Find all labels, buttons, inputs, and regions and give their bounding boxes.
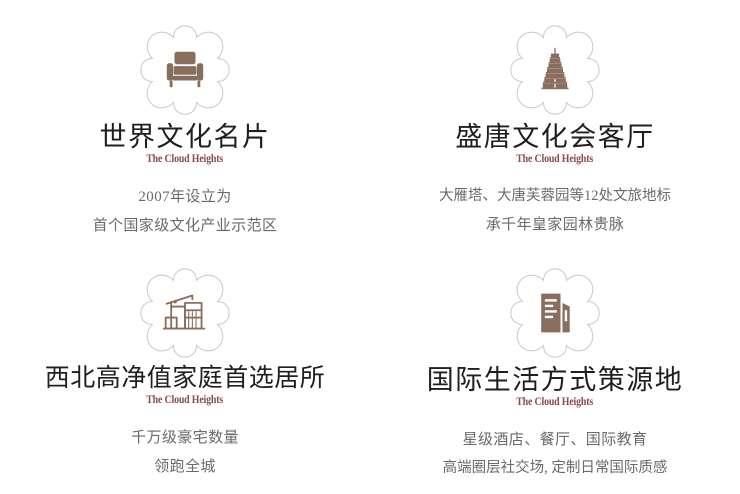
feature-highlights-board: 世界文化名片 The Cloud Heights 2007年设立为 首个国家级文… xyxy=(0,0,740,494)
villa-icon xyxy=(162,290,208,336)
pagoda-icon-badge xyxy=(507,22,603,118)
brand-subtitle: The Cloud Heights xyxy=(147,394,224,408)
feature-description: 千万级豪宅数量 领跑全城 xyxy=(131,424,239,482)
description-line-1: 大雁塔、大唐芙蓉园等12处文旅地标 xyxy=(439,183,671,211)
feature-description: 2007年设立为 首个国家级文化产业示范区 xyxy=(93,183,278,241)
description-line-1: 千万级豪宅数量 xyxy=(131,424,239,453)
feature-card-grid: 世界文化名片 The Cloud Heights 2007年设立为 首个国家级文… xyxy=(0,0,740,494)
feature-description: 大雁塔、大唐芙蓉园等12处文旅地标 承千年皇家园林贵脉 xyxy=(439,183,671,240)
pagoda-icon xyxy=(532,47,578,93)
armchair-icon-badge xyxy=(137,22,233,118)
feature-card-international-lifestyle[interactable]: 国际生活方式策源地 The Cloud Heights 星级酒店、餐厅、国际教育… xyxy=(370,247,740,494)
city-buildings-icon xyxy=(532,290,578,336)
feature-card-premier-residence[interactable]: 西北高净值家庭首选居所 The Cloud Heights 千万级豪宅数量 领跑… xyxy=(0,247,370,494)
description-line-2: 首个国家级文化产业示范区 xyxy=(93,212,278,241)
feature-card-tang-salon[interactable]: 盛唐文化会客厅 The Cloud Heights 大雁塔、大唐芙蓉园等12处文… xyxy=(370,0,740,247)
feature-heading: 盛唐文化会客厅 xyxy=(455,122,655,152)
feature-heading: 国际生活方式策源地 xyxy=(427,365,684,395)
feature-card-culture-card[interactable]: 世界文化名片 The Cloud Heights 2007年设立为 首个国家级文… xyxy=(0,0,370,247)
brand-subtitle: The Cloud Heights xyxy=(147,153,224,167)
description-line-2: 领跑全城 xyxy=(131,453,239,482)
description-line-1: 2007年设立为 xyxy=(93,183,278,212)
city-buildings-icon-badge xyxy=(507,265,603,361)
feature-heading: 西北高净值家庭首选居所 xyxy=(45,365,326,393)
brand-subtitle: The Cloud Heights xyxy=(517,396,594,410)
description-line-1: 星级酒店、餐厅、国际教育 xyxy=(443,426,668,455)
description-line-2: 承千年皇家园林贵脉 xyxy=(439,211,671,240)
feature-description: 星级酒店、餐厅、国际教育 高端圈层社交场, 定制日常国际质感 xyxy=(443,426,668,483)
villa-icon-badge xyxy=(137,265,233,361)
description-line-2: 高端圈层社交场, 定制日常国际质感 xyxy=(443,455,668,483)
feature-heading: 世界文化名片 xyxy=(100,122,271,152)
armchair-icon xyxy=(162,47,208,93)
brand-subtitle: The Cloud Heights xyxy=(517,153,594,167)
